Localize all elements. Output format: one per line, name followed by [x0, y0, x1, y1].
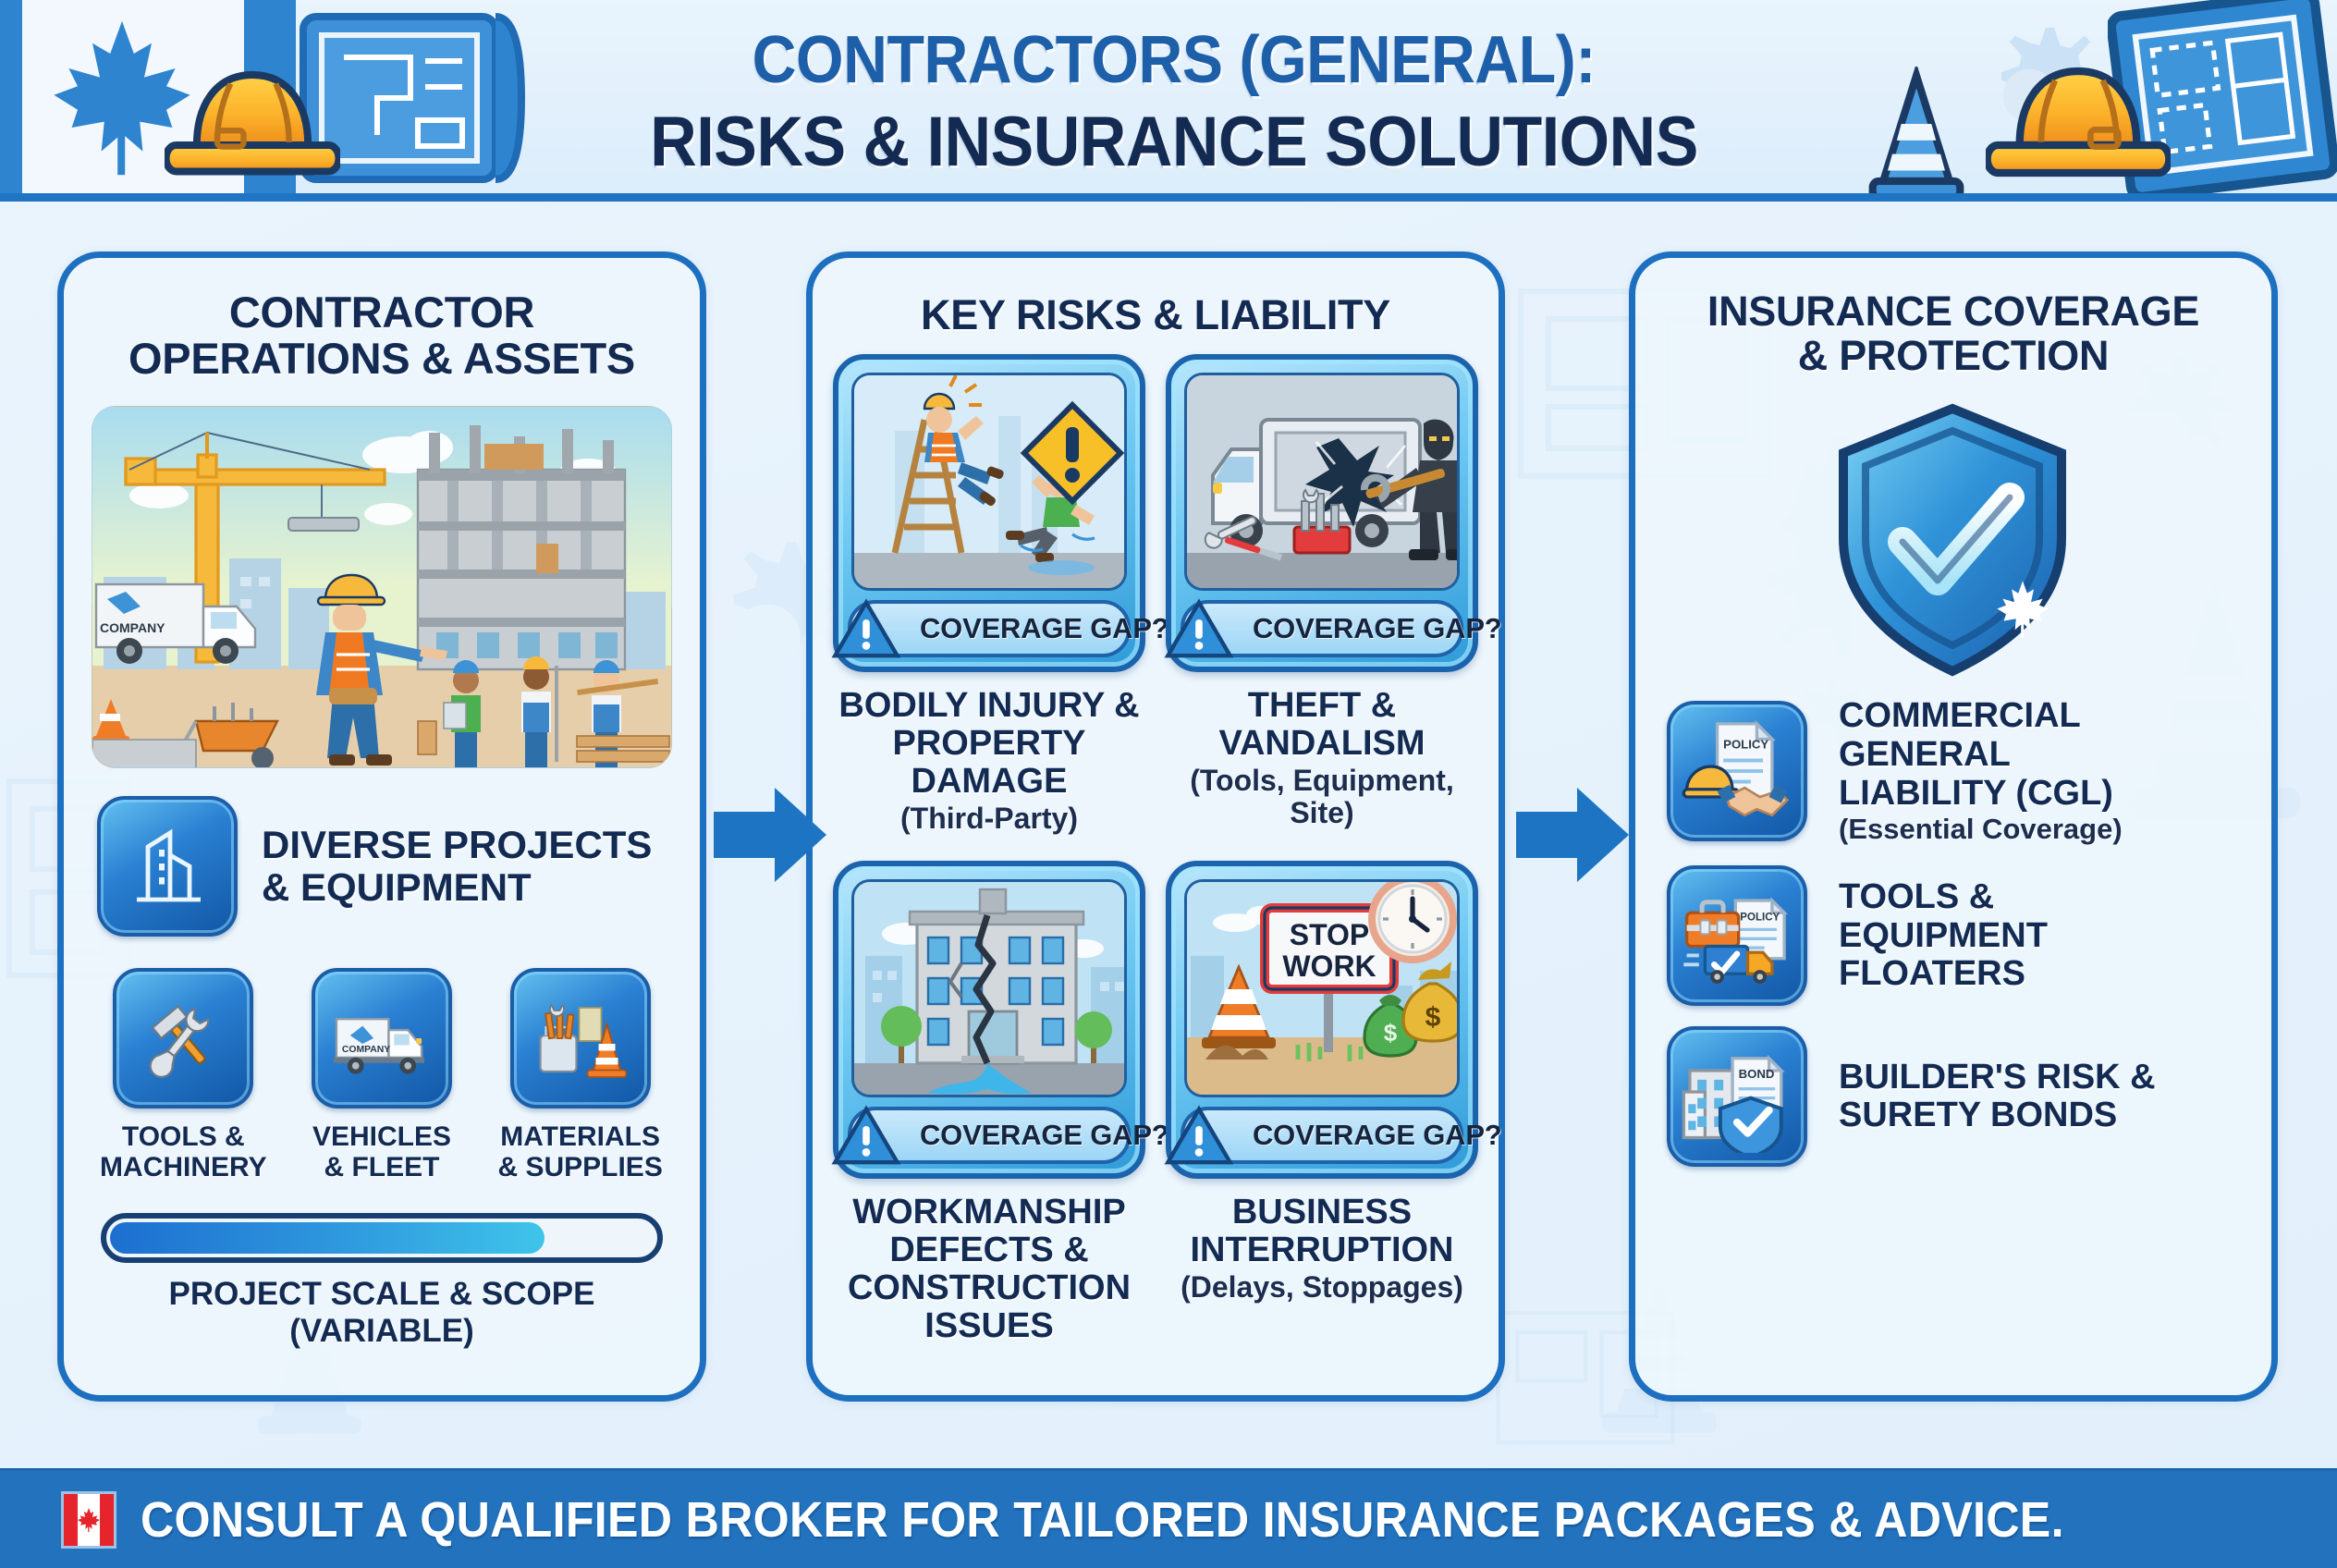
asset-caption-line-2: & FLEET: [312, 1152, 451, 1183]
panel-left-title-line-2: OPERATIONS & ASSETS: [82, 336, 681, 382]
risk-card[interactable]: COVERAGE GAP?: [1166, 354, 1478, 672]
truck-break-in-thief-icon: [1184, 373, 1460, 591]
policy-handshake-hardhat-icon: POLICY: [1667, 701, 1807, 841]
coverage-gap-badge: COVERAGE GAP?: [848, 1107, 1131, 1164]
page-title: CONTRACTORS (GENERAL): RISKS & INSURANCE…: [518, 9, 1830, 194]
svg-text:WORK: WORK: [1282, 949, 1376, 983]
panel-key-risks: KEY RISKS & LIABILITY: [806, 251, 1505, 1402]
risk-title-line-1: BODILY INJURY &: [829, 687, 1149, 725]
feature-label: DIVERSE PROJECTS & EQUIPMENT: [262, 824, 652, 908]
panel-right-title-line-1: INSURANCE COVERAGE: [1659, 289, 2247, 334]
hard-hat-icon: [165, 63, 340, 192]
asset-tools-machinery: TOOLS & MACHINERY: [94, 968, 272, 1183]
svg-text:$: $: [1425, 1002, 1441, 1033]
risk-title: BODILY INJURY & PROPERTY DAMAGE: [829, 687, 1149, 801]
arrow-shaft: [714, 812, 780, 858]
panel-left-title-line-1: CONTRACTOR: [82, 289, 681, 336]
arrow-head: [775, 788, 826, 882]
coverage-gap-badge: COVERAGE GAP?: [848, 600, 1131, 657]
construction-site-illustration: COMPANY: [92, 406, 672, 768]
traffic-cone-icon: [1861, 67, 1972, 202]
svg-text:$: $: [1384, 1019, 1398, 1047]
scale-bar-label: PROJECT SCALE & SCOPE (VARIABLE): [101, 1276, 663, 1350]
risk-workmanship-defects: COVERAGE GAP? WORKMANSHIP DEFECTS & CONS…: [829, 861, 1149, 1345]
risk-title: THEFT & VANDALISM: [1218, 687, 1425, 763]
risk-title: WORKMANSHIP DEFECTS & CONSTRUCTION ISSUE…: [848, 1194, 1131, 1345]
svg-text:STOP: STOP: [1290, 918, 1370, 951]
svg-text:POLICY: POLICY: [1740, 913, 1780, 924]
svg-text:BOND: BOND: [1739, 1068, 1775, 1082]
panel-contractor-operations: CONTRACTOR OPERATIONS & ASSETS: [57, 251, 706, 1402]
building-bond-shield-icon: BOND: [1667, 1026, 1807, 1167]
coverage-title: COMMERCIAL GENERAL LIABILITY (CGL): [1839, 697, 2123, 813]
coverage-title-line-3: LIABILITY (CGL): [1839, 775, 2123, 814]
coverage-title-line-2: SURETY BONDS: [1839, 1096, 2156, 1135]
asset-caption-line-1: TOOLS &: [100, 1121, 267, 1153]
coverage-subtitle: (Essential Coverage): [1839, 814, 2123, 846]
panel-middle-title: KEY RISKS & LIABILITY: [813, 293, 1499, 337]
panel-right-title: INSURANCE COVERAGE & PROTECTION: [1635, 289, 2271, 377]
scale-bar-fill: [110, 1222, 544, 1254]
warning-triangle-icon: [1164, 597, 1234, 662]
company-truck-icon: COMPANY: [312, 968, 452, 1109]
coverage-gap-label: COVERAGE GAP?: [1253, 1119, 1502, 1152]
header-banner: CONTRACTORS (GENERAL): RISKS & INSURANCE…: [0, 0, 2337, 202]
hammer-wrench-icon: [113, 968, 253, 1109]
svg-text:COMPANY: COMPANY: [342, 1044, 390, 1054]
cracked-building-leak-icon: [851, 879, 1127, 1097]
asset-caption: MATERIALS & SUPPLIES: [497, 1121, 662, 1183]
ladder-fall-slip-hazard-icon: [851, 373, 1127, 591]
svg-text:COMPANY: COMPANY: [100, 620, 165, 635]
risk-title-line-4: ISSUES: [848, 1307, 1131, 1345]
coverage-text: TOOLS & EQUIPMENT FLOATERS: [1839, 878, 2048, 994]
risk-bodily-injury: COVERAGE GAP? BODILY INJURY & PROPERTY D…: [829, 354, 1149, 835]
coverage-gap-badge: COVERAGE GAP?: [1181, 1107, 1463, 1164]
warning-triangle-icon: [831, 1104, 901, 1169]
office-buildings-icon: [97, 796, 238, 937]
toolbox-policy-truck-icon: POLICY: [1667, 865, 1807, 1006]
feature-diverse-projects: DIVERSE PROJECTS & EQUIPMENT: [97, 796, 700, 937]
arrow-shaft: [1516, 812, 1583, 858]
risk-subtitle: (Third-Party): [900, 802, 1078, 835]
coverage-text: BUILDER'S RISK & SURETY BONDS: [1839, 1059, 2156, 1136]
risk-subtitle: (Tools, Equipment, Site): [1162, 765, 1482, 829]
panel-insurance-coverage: INSURANCE COVERAGE & PROTECTION: [1629, 251, 2278, 1402]
asset-materials-supplies: MATERIALS & SUPPLIES: [492, 968, 669, 1183]
footer-text: CONSULT A QUALIFIED BROKER FOR TAILORED …: [141, 1491, 2064, 1549]
asset-caption-line-1: VEHICLES: [312, 1121, 451, 1153]
coverage-text: COMMERCIAL GENERAL LIABILITY (CGL) (Esse…: [1839, 697, 2123, 845]
risk-title-line-2: PROPERTY DAMAGE: [829, 725, 1149, 801]
warning-triangle-icon: [831, 597, 901, 662]
risk-title-line-3: CONSTRUCTION: [848, 1269, 1131, 1307]
coverage-gap-badge: COVERAGE GAP?: [1181, 600, 1463, 657]
hard-hat-icon: [1986, 57, 2171, 196]
feature-label-line-2: & EQUIPMENT: [262, 866, 652, 908]
coverage-builders-risk-surety-bonds[interactable]: BOND BUILDER'S RISK & SURETY BONDS: [1667, 1026, 2271, 1167]
asset-caption-line-2: MACHINERY: [100, 1152, 267, 1183]
risk-title: BUSINESS INTERRUPTION: [1191, 1194, 1454, 1269]
coverage-gap-label: COVERAGE GAP?: [920, 1119, 1169, 1152]
shield-checkmark-maple-leaf-icon: [1832, 401, 2074, 679]
footer-callout-bar: CONSULT A QUALIFIED BROKER FOR TAILORED …: [0, 1468, 2337, 1568]
risk-card-grid: COVERAGE GAP? BODILY INJURY & PROPERTY D…: [829, 354, 1482, 1345]
risk-card[interactable]: STOP WORK: [1166, 861, 1478, 1179]
risk-card[interactable]: COVERAGE GAP?: [833, 354, 1145, 672]
feature-label-line-1: DIVERSE PROJECTS: [262, 824, 652, 865]
coverage-title-line-3: FLOATERS: [1839, 955, 2048, 994]
asset-caption: VEHICLES & FLEET: [312, 1121, 451, 1183]
title-line-1: CONTRACTORS (GENERAL):: [752, 22, 1596, 98]
asset-icon-grid: TOOLS & MACHINERY COMPANY: [84, 968, 679, 1183]
risk-title-line-1: THEFT &: [1218, 687, 1425, 725]
asset-caption: TOOLS & MACHINERY: [100, 1121, 267, 1183]
risk-subtitle: (Delays, Stoppages): [1181, 1271, 1463, 1304]
coverage-title-line-1: BUILDER'S RISK &: [1839, 1059, 2156, 1097]
coverage-tools-equipment-floaters[interactable]: POLICY TOOLS & E: [1667, 865, 2271, 1006]
coverage-title-line-2: EQUIPMENT: [1839, 917, 2048, 956]
risk-title-line-2: VANDALISM: [1218, 725, 1425, 763]
canada-flag-icon: [61, 1491, 116, 1549]
coverage-gap-label: COVERAGE GAP?: [1253, 612, 1502, 645]
risk-title-line-1: WORKMANSHIP: [848, 1194, 1131, 1231]
project-scale-meter: PROJECT SCALE & SCOPE (VARIABLE): [101, 1213, 663, 1350]
stop-work-sign-clock-money-icon: STOP WORK: [1184, 879, 1460, 1097]
asset-vehicles-fleet: COMPANY VEHICLES & FLEET: [293, 968, 471, 1183]
scale-bar-track[interactable]: [101, 1213, 663, 1263]
materials-supplies-icon: [510, 968, 651, 1109]
coverage-title-line-2: GENERAL: [1839, 736, 2123, 775]
coverage-title: BUILDER'S RISK & SURETY BONDS: [1839, 1059, 2156, 1136]
asset-caption-line-1: MATERIALS: [497, 1121, 662, 1153]
coverage-gap-label: COVERAGE GAP?: [920, 612, 1169, 645]
flag-stripe-left: [0, 0, 22, 193]
shield-badge-wrap: [1635, 383, 2271, 697]
panel-left-title: CONTRACTOR OPERATIONS & ASSETS: [64, 289, 700, 382]
risk-card[interactable]: COVERAGE GAP?: [833, 861, 1145, 1179]
arrow-head: [1577, 788, 1629, 882]
risk-business-interruption: STOP WORK: [1162, 861, 1482, 1345]
risk-title-line-2: DEFECTS &: [848, 1231, 1131, 1269]
warning-triangle-icon: [1164, 1104, 1234, 1169]
risk-title-line-1: BUSINESS: [1191, 1194, 1454, 1231]
coverage-title: TOOLS & EQUIPMENT FLOATERS: [1839, 878, 2048, 994]
panel-right-title-line-2: & PROTECTION: [1659, 334, 2247, 378]
infographic-canvas: CONTRACTORS (GENERAL): RISKS & INSURANCE…: [0, 0, 2337, 1568]
coverage-title-line-1: COMMERCIAL: [1839, 697, 2123, 736]
coverage-title-line-1: TOOLS &: [1839, 878, 2048, 917]
title-line-2: RISKS & INSURANCE SOLUTIONS: [650, 102, 1698, 182]
risk-title-line-2: INTERRUPTION: [1191, 1231, 1454, 1269]
coverage-commercial-general-liability[interactable]: POLICY COMMERCIAL GENERAL LIABILITY (CGL…: [1667, 697, 2271, 845]
svg-text:POLICY: POLICY: [1723, 738, 1768, 752]
asset-caption-line-2: & SUPPLIES: [497, 1152, 662, 1183]
risk-theft-vandalism: COVERAGE GAP? THEFT & VANDALISM (Tools, …: [1162, 354, 1482, 835]
